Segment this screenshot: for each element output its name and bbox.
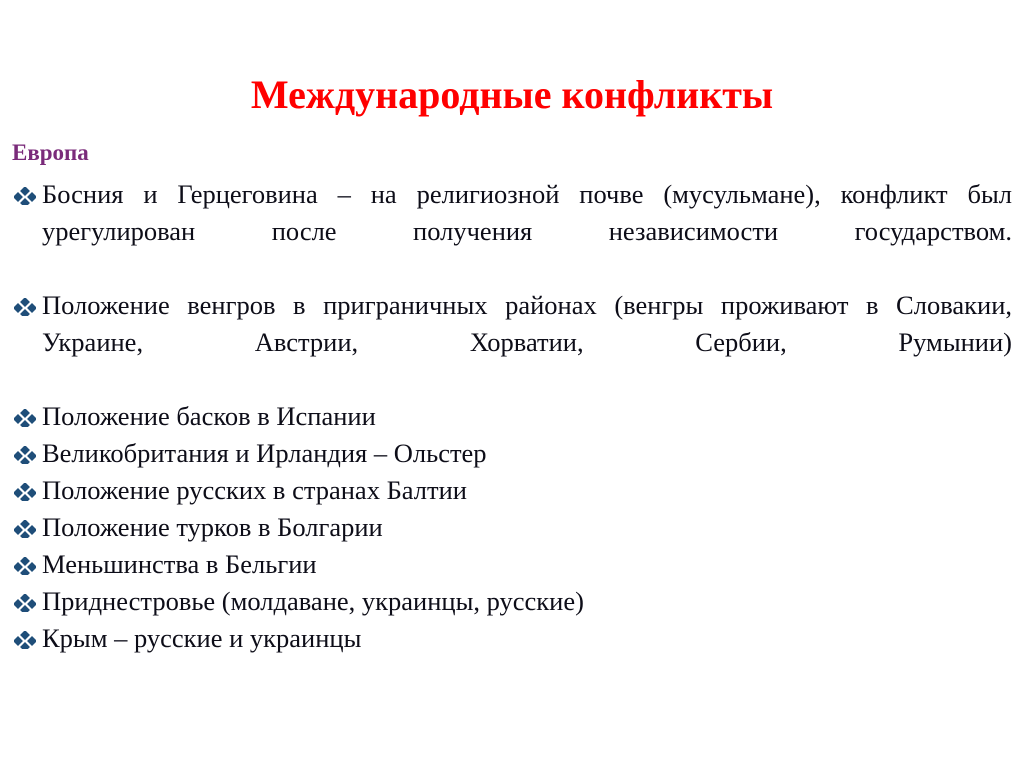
diamond-cluster-bullet-icon <box>12 509 38 535</box>
list-item-label: Меньшинства в Бельгии <box>42 549 317 579</box>
diamond-cluster-bullet-icon <box>12 287 38 313</box>
list-item: Крым – русские и украинцы <box>12 620 1012 657</box>
list-item: Босния и Герцеговина – на религиозной по… <box>12 176 1012 287</box>
list-item-label: Положение русских в странах Балтии <box>42 475 467 505</box>
list-item: Великобритания и Ирландия – Ольстер <box>12 435 1012 472</box>
list-item-label: Положение турков в Болгарии <box>42 512 383 542</box>
list-item: Положение басков в Испании <box>12 398 1012 435</box>
list-item-label: Крым – русские и украинцы <box>42 623 361 653</box>
diamond-cluster-bullet-icon <box>12 472 38 498</box>
list-item: Приднестровье (молдаване, украинцы, русс… <box>12 583 1012 620</box>
section-heading-europe: Европа <box>12 138 1012 168</box>
diamond-cluster-bullet-icon <box>12 398 38 424</box>
slide-body: Европа Босния и Герцеговина – на религио… <box>12 138 1012 657</box>
diamond-cluster-bullet-icon <box>12 546 38 572</box>
list-item-label: Положение басков в Испании <box>42 401 376 431</box>
list-item: Положение турков в Болгарии <box>12 509 1012 546</box>
diamond-cluster-bullet-icon <box>12 583 38 609</box>
diamond-cluster-bullet-icon <box>12 435 38 461</box>
conflict-bullet-list: Босния и Герцеговина – на религиозной по… <box>12 176 1012 657</box>
page-title: Международные конфликты <box>0 72 1024 118</box>
list-item-label: Положение венгров в приграничных районах… <box>42 290 1012 357</box>
list-item: Положение венгров в приграничных районах… <box>12 287 1012 398</box>
list-item-label: Великобритания и Ирландия – Ольстер <box>42 438 487 468</box>
slide-canvas: Международные конфликты Европа Босния и … <box>0 0 1024 767</box>
diamond-cluster-bullet-icon <box>12 176 38 202</box>
list-item-label: Приднестровье (молдаване, украинцы, русс… <box>42 586 584 616</box>
list-item-label: Босния и Герцеговина – на религиозной по… <box>42 179 1012 246</box>
list-item: Меньшинства в Бельгии <box>12 546 1012 583</box>
diamond-cluster-bullet-icon <box>12 620 38 646</box>
list-item: Положение русских в странах Балтии <box>12 472 1012 509</box>
